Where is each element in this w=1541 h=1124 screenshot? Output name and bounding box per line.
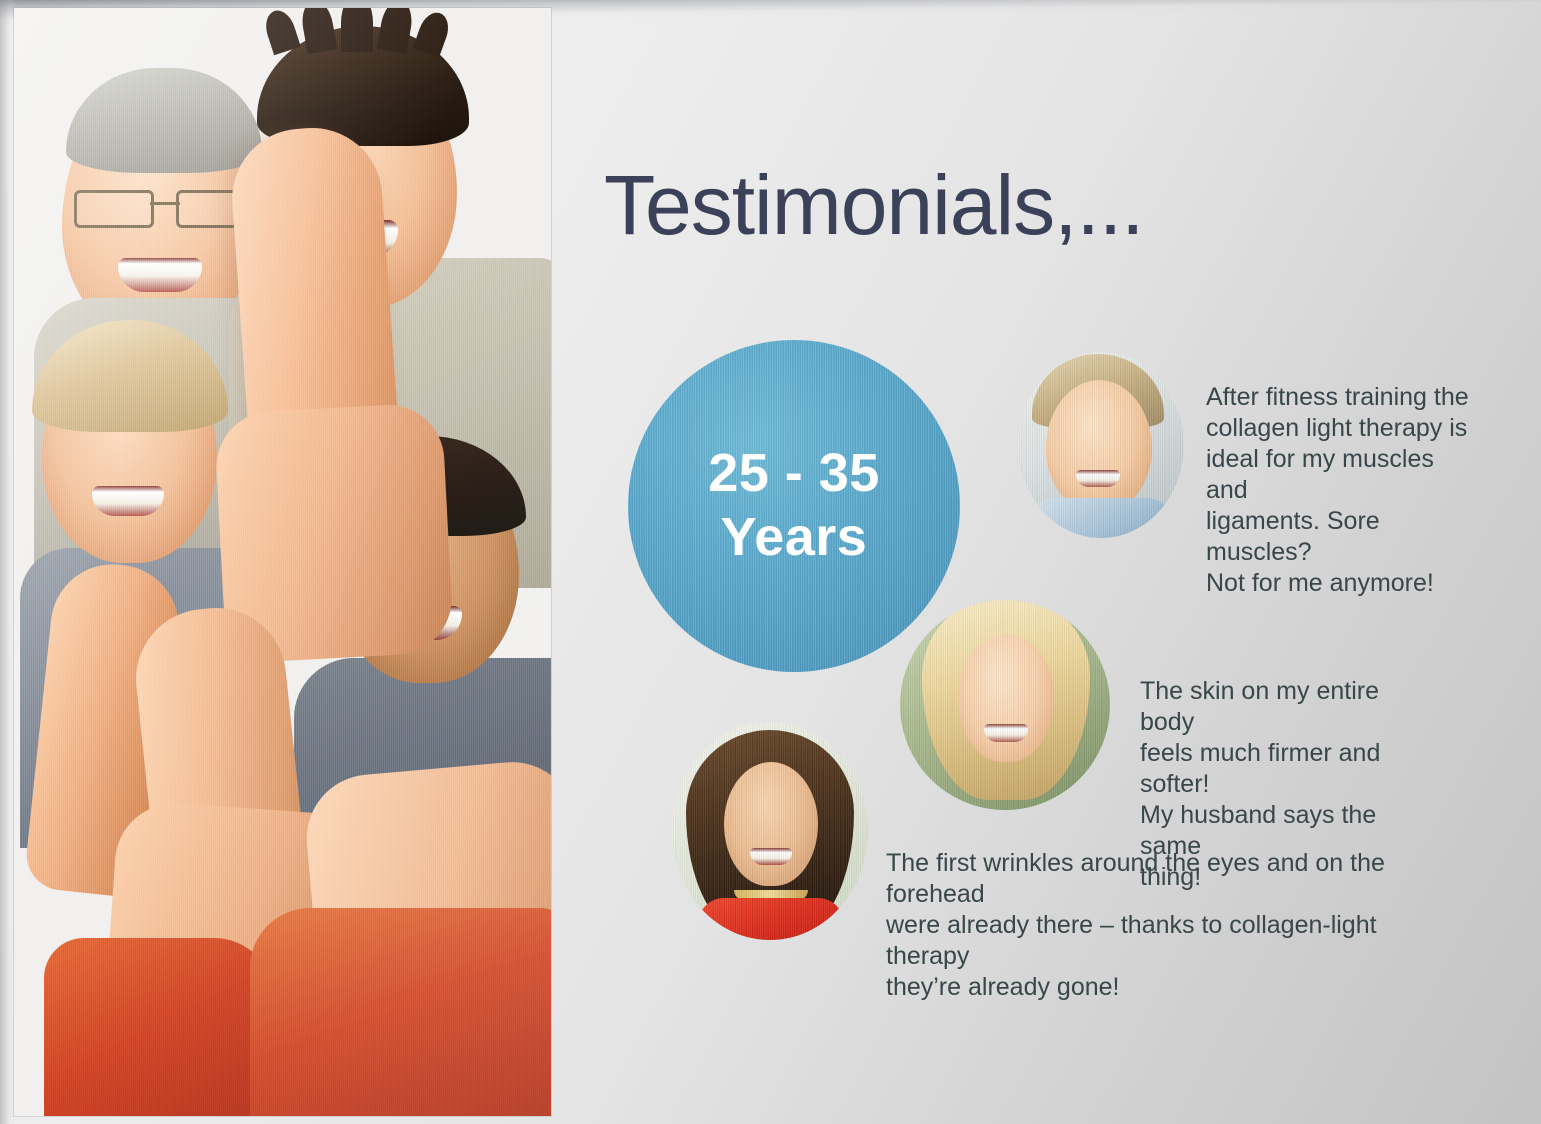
testimonial-text-man: After fitness training the collagen ligh… [1206,382,1478,599]
avatar [900,600,1110,810]
testimonial-text-brunette-woman: The first wrinkles around the eyes and o… [886,848,1456,1003]
photo-person-blonde-woman-smile [92,486,164,516]
photo-red-garment [44,938,274,1116]
thumbs-up-group-photo [14,8,551,1116]
glasses-icon [72,190,258,224]
photo-person-older-man-hair [66,68,262,173]
page-title: Testimonials,... [604,163,1144,247]
photo-red-garment [250,908,551,1116]
photo-person-young-man-hair [257,26,469,146]
slide-canvas: Testimonials,... 25 - 35 Years After fit… [0,0,1541,1124]
avatar [1018,352,1184,538]
age-range-value: 25 - 35 [708,442,880,506]
photo-person-older-man-smile [118,258,202,292]
age-range-unit: Years [721,506,868,570]
avatar [672,722,868,940]
